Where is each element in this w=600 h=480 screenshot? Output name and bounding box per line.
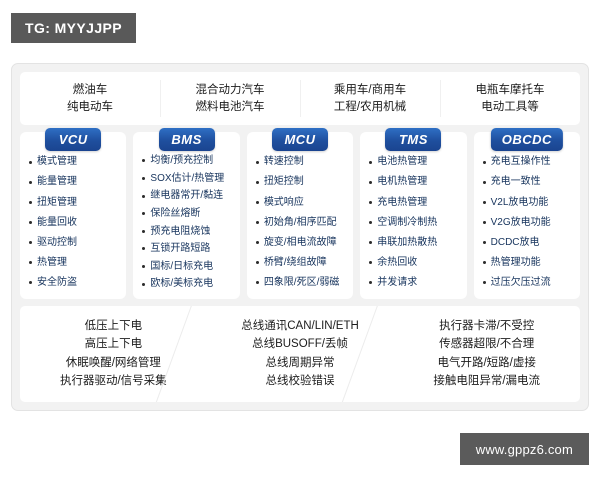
module-feature-label: 保险丝熔断 bbox=[150, 208, 200, 220]
bullet-icon bbox=[256, 261, 259, 264]
module-feature-item: 过压欠压过流 bbox=[483, 277, 574, 289]
vehicle-category-text: 燃油车 bbox=[73, 84, 108, 97]
module-feature-label: 能量管理 bbox=[37, 176, 77, 188]
bullet-icon bbox=[29, 201, 32, 204]
bullet-icon bbox=[256, 221, 259, 224]
module-feature-label: 驱动控制 bbox=[37, 237, 77, 249]
common-function-text: 总线BUSOFF/丢帧 bbox=[252, 338, 348, 351]
module-feature-label: 空调制冷制热 bbox=[377, 217, 437, 229]
module-feature-item: 均衡/预充控制 bbox=[142, 155, 233, 167]
module-feature-item: 互锁开路短路 bbox=[142, 243, 233, 255]
module-feature-item: 欧标/美标充电 bbox=[142, 278, 233, 290]
module-feature-item: V2G放电功能 bbox=[483, 217, 574, 229]
module-feature-item: DCDC放电 bbox=[483, 237, 574, 249]
module-feature-label: 充电一致性 bbox=[491, 176, 541, 188]
bullet-icon bbox=[369, 181, 372, 184]
module-card-vcu[interactable]: VCU模式管理能量管理扭矩管理能量回收驱动控制热管理安全防盗 bbox=[20, 132, 126, 299]
module-feature-item: 电机热管理 bbox=[369, 176, 460, 188]
module-feature-item: 安全防盗 bbox=[29, 277, 120, 289]
module-feature-item: 空调制冷制热 bbox=[369, 217, 460, 229]
module-feature-item: 模式响应 bbox=[256, 197, 347, 209]
module-feature-item: 转速控制 bbox=[256, 156, 347, 168]
module-feature-item: 串联加热散热 bbox=[369, 237, 460, 249]
bullet-icon bbox=[29, 221, 32, 224]
bullet-icon bbox=[369, 201, 372, 204]
common-function-text: 高压上下电 bbox=[85, 338, 143, 351]
module-feature-label: SOX估计/热管理 bbox=[150, 173, 224, 185]
bullet-icon bbox=[29, 161, 32, 164]
module-feature-label: 初始角/相序匹配 bbox=[264, 217, 337, 229]
module-feature-label: 过压欠压过流 bbox=[491, 277, 551, 289]
vehicle-category-text: 纯电动车 bbox=[67, 101, 113, 114]
common-function-text: 总线校验错误 bbox=[266, 375, 335, 388]
module-feature-label: 充电互操作性 bbox=[491, 156, 551, 168]
vehicle-category-cell: 燃油车纯电动车 bbox=[20, 72, 160, 125]
bullet-icon bbox=[483, 241, 486, 244]
module-feature-label: 安全防盗 bbox=[37, 277, 77, 289]
vehicle-category-text: 电动工具等 bbox=[481, 101, 539, 114]
common-function-text: 执行器驱动/信号采集 bbox=[60, 375, 167, 388]
module-feature-item: 预充电阻烧蚀 bbox=[142, 226, 233, 238]
common-function-text: 执行器卡滞/不受控 bbox=[439, 320, 534, 333]
architecture-diagram: 燃油车纯电动车混合动力汽车燃料电池汽车乘用车/商用车工程/农用机械电瓶车摩托车电… bbox=[11, 63, 589, 411]
module-badge-obcdc: OBCDC bbox=[491, 128, 563, 151]
common-function-cell: 执行器卡滞/不受控传感器超限/不合理电气开路/短路/虚接接触电阻异常/漏电流 bbox=[393, 306, 580, 402]
module-feature-label: 互锁开路短路 bbox=[150, 243, 210, 255]
module-feature-label: 扭矩控制 bbox=[264, 176, 304, 188]
module-feature-label: 充电热管理 bbox=[377, 197, 427, 209]
bullet-icon bbox=[142, 247, 145, 250]
module-feature-item: 充电热管理 bbox=[369, 197, 460, 209]
module-feature-label: 四象限/死区/弱磁 bbox=[264, 277, 340, 289]
module-feature-item: 余热回收 bbox=[369, 257, 460, 269]
module-feature-item: 电池热管理 bbox=[369, 156, 460, 168]
vehicle-category-text: 工程/农用机械 bbox=[334, 101, 406, 114]
bullet-icon bbox=[142, 177, 145, 180]
module-feature-item: 驱动控制 bbox=[29, 237, 120, 249]
common-function-text: 传感器超限/不合理 bbox=[439, 338, 534, 351]
module-feature-item: 继电器常开/黏连 bbox=[142, 190, 233, 202]
bullet-icon bbox=[256, 241, 259, 244]
module-feature-label: 桥臂/绕组故障 bbox=[264, 257, 327, 269]
bullet-icon bbox=[483, 281, 486, 284]
module-badge-vcu: VCU bbox=[45, 128, 101, 151]
bullet-icon bbox=[142, 283, 145, 286]
bullet-icon bbox=[483, 181, 486, 184]
bullet-icon bbox=[369, 161, 372, 164]
module-feature-label: 热管理功能 bbox=[491, 257, 541, 269]
module-feature-item: 热管理 bbox=[29, 257, 120, 269]
module-feature-item: 模式管理 bbox=[29, 156, 120, 168]
page-root: TG: MYYJJPP 燃油车纯电动车混合动力汽车燃料电池汽车乘用车/商用车工程… bbox=[0, 0, 600, 480]
module-card-mcu[interactable]: MCU转速控制扭矩控制模式响应初始角/相序匹配旋变/相电流故障桥臂/绕组故障四象… bbox=[247, 132, 353, 299]
vehicle-category-cell: 混合动力汽车燃料电池汽车 bbox=[160, 72, 300, 125]
bullet-icon bbox=[142, 159, 145, 162]
module-card-bms[interactable]: BMS均衡/预充控制SOX估计/热管理继电器常开/黏连保险丝熔断预充电阻烧蚀互锁… bbox=[133, 132, 239, 299]
module-feature-label: 能量回收 bbox=[37, 217, 77, 229]
bullet-icon bbox=[369, 221, 372, 224]
module-feature-item: 能量管理 bbox=[29, 176, 120, 188]
bullet-icon bbox=[483, 221, 486, 224]
vehicle-category-text: 燃料电池汽车 bbox=[196, 101, 265, 114]
bullet-icon bbox=[142, 195, 145, 198]
module-feature-label: 扭矩管理 bbox=[37, 197, 77, 209]
module-feature-label: 电机热管理 bbox=[377, 176, 427, 188]
common-function-text: 接触电阻异常/漏电流 bbox=[433, 375, 540, 388]
module-feature-label: 旋变/相电流故障 bbox=[264, 237, 337, 249]
site-url-badge: www.gppz6.com bbox=[460, 433, 589, 465]
module-feature-label: 电池热管理 bbox=[377, 156, 427, 168]
module-feature-list: 电池热管理电机热管理充电热管理空调制冷制热串联加热散热余热回收并发请求 bbox=[366, 152, 460, 293]
bullet-icon bbox=[256, 161, 259, 164]
module-badge-tms: TMS bbox=[385, 128, 441, 151]
module-feature-label: 模式响应 bbox=[264, 197, 304, 209]
module-feature-item: 扭矩控制 bbox=[256, 176, 347, 188]
bullet-icon bbox=[29, 281, 32, 284]
module-feature-item: 桥臂/绕组故障 bbox=[256, 257, 347, 269]
vehicle-category-text: 电瓶车摩托车 bbox=[476, 84, 545, 97]
module-card-tms[interactable]: TMS电池热管理电机热管理充电热管理空调制冷制热串联加热散热余热回收并发请求 bbox=[360, 132, 466, 299]
bullet-icon bbox=[142, 212, 145, 215]
bullet-icon bbox=[142, 265, 145, 268]
bullet-icon bbox=[483, 261, 486, 264]
bullet-icon bbox=[29, 181, 32, 184]
module-badge-bms: BMS bbox=[159, 128, 215, 151]
bullet-icon bbox=[142, 230, 145, 233]
module-feature-item: 保险丝熔断 bbox=[142, 208, 233, 220]
module-feature-label: 模式管理 bbox=[37, 156, 77, 168]
module-feature-label: 国标/日标充电 bbox=[150, 261, 213, 273]
common-function-text: 总线周期异常 bbox=[266, 357, 335, 370]
module-feature-item: 并发请求 bbox=[369, 277, 460, 289]
module-feature-item: SOX估计/热管理 bbox=[142, 173, 233, 185]
site-url-label: www.gppz6.com bbox=[476, 442, 573, 457]
bullet-icon bbox=[256, 281, 259, 284]
module-feature-label: V2G放电功能 bbox=[491, 217, 551, 229]
common-function-text: 总线通讯CAN/LIN/ETH bbox=[241, 320, 359, 333]
bullet-icon bbox=[483, 161, 486, 164]
module-feature-list: 充电互操作性充电一致性V2L放电功能V2G放电功能DCDC放电热管理功能过压欠压… bbox=[480, 152, 574, 293]
vehicle-category-cell: 乘用车/商用车工程/农用机械 bbox=[300, 72, 440, 125]
module-feature-item: 充电一致性 bbox=[483, 176, 574, 188]
common-function-text: 低压上下电 bbox=[85, 320, 143, 333]
common-function-text: 电气开路/短路/虚接 bbox=[437, 357, 535, 370]
module-feature-label: 欧标/美标充电 bbox=[150, 278, 213, 290]
bullet-icon bbox=[256, 181, 259, 184]
module-feature-item: 四象限/死区/弱磁 bbox=[256, 277, 347, 289]
module-feature-item: V2L放电功能 bbox=[483, 197, 574, 209]
bullet-icon bbox=[369, 281, 372, 284]
module-feature-list: 均衡/预充控制SOX估计/热管理继电器常开/黏连保险丝熔断预充电阻烧蚀互锁开路短… bbox=[139, 152, 233, 293]
vehicle-category-cell: 电瓶车摩托车电动工具等 bbox=[440, 72, 580, 125]
vehicle-category-text: 乘用车/商用车 bbox=[334, 84, 406, 97]
module-feature-item: 国标/日标充电 bbox=[142, 261, 233, 273]
module-badge-mcu: MCU bbox=[272, 128, 328, 151]
module-feature-label: 均衡/预充控制 bbox=[150, 155, 213, 167]
module-feature-list: 模式管理能量管理扭矩管理能量回收驱动控制热管理安全防盗 bbox=[26, 152, 120, 293]
common-function-row: 低压上下电高压上下电休眠唤醒/网络管理执行器驱动/信号采集总线通讯CAN/LIN… bbox=[20, 306, 580, 402]
bullet-icon bbox=[29, 261, 32, 264]
module-feature-list: 转速控制扭矩控制模式响应初始角/相序匹配旋变/相电流故障桥臂/绕组故障四象限/死… bbox=[253, 152, 347, 293]
vehicle-category-text: 混合动力汽车 bbox=[196, 84, 265, 97]
module-feature-item: 扭矩管理 bbox=[29, 197, 120, 209]
module-feature-label: 预充电阻烧蚀 bbox=[150, 226, 210, 238]
module-feature-label: DCDC放电 bbox=[491, 237, 540, 249]
common-function-cell: 低压上下电高压上下电休眠唤醒/网络管理执行器驱动/信号采集 bbox=[20, 306, 207, 402]
module-feature-item: 热管理功能 bbox=[483, 257, 574, 269]
module-feature-label: 串联加热散热 bbox=[377, 237, 437, 249]
module-feature-label: V2L放电功能 bbox=[491, 197, 549, 209]
vehicle-category-row: 燃油车纯电动车混合动力汽车燃料电池汽车乘用车/商用车工程/农用机械电瓶车摩托车电… bbox=[20, 72, 580, 125]
tg-tag-badge: TG: MYYJJPP bbox=[11, 13, 136, 43]
module-feature-label: 并发请求 bbox=[377, 277, 417, 289]
module-feature-label: 热管理 bbox=[37, 257, 67, 269]
module-feature-item: 旋变/相电流故障 bbox=[256, 237, 347, 249]
module-feature-item: 初始角/相序匹配 bbox=[256, 217, 347, 229]
bullet-icon bbox=[29, 241, 32, 244]
module-feature-label: 继电器常开/黏连 bbox=[150, 190, 223, 202]
module-feature-label: 转速控制 bbox=[264, 156, 304, 168]
bullet-icon bbox=[483, 201, 486, 204]
tg-tag-label: TG: MYYJJPP bbox=[25, 20, 122, 36]
bullet-icon bbox=[369, 241, 372, 244]
module-card-obcdc[interactable]: OBCDC充电互操作性充电一致性V2L放电功能V2G放电功能DCDC放电热管理功… bbox=[474, 132, 580, 299]
common-function-cell: 总线通讯CAN/LIN/ETH总线BUSOFF/丢帧总线周期异常总线校验错误 bbox=[207, 306, 394, 402]
bullet-icon bbox=[256, 201, 259, 204]
module-feature-item: 能量回收 bbox=[29, 217, 120, 229]
module-feature-label: 余热回收 bbox=[377, 257, 417, 269]
module-card-row: VCU模式管理能量管理扭矩管理能量回收驱动控制热管理安全防盗BMS均衡/预充控制… bbox=[20, 132, 580, 299]
bullet-icon bbox=[369, 261, 372, 264]
common-function-text: 休眠唤醒/网络管理 bbox=[66, 357, 161, 370]
module-feature-item: 充电互操作性 bbox=[483, 156, 574, 168]
